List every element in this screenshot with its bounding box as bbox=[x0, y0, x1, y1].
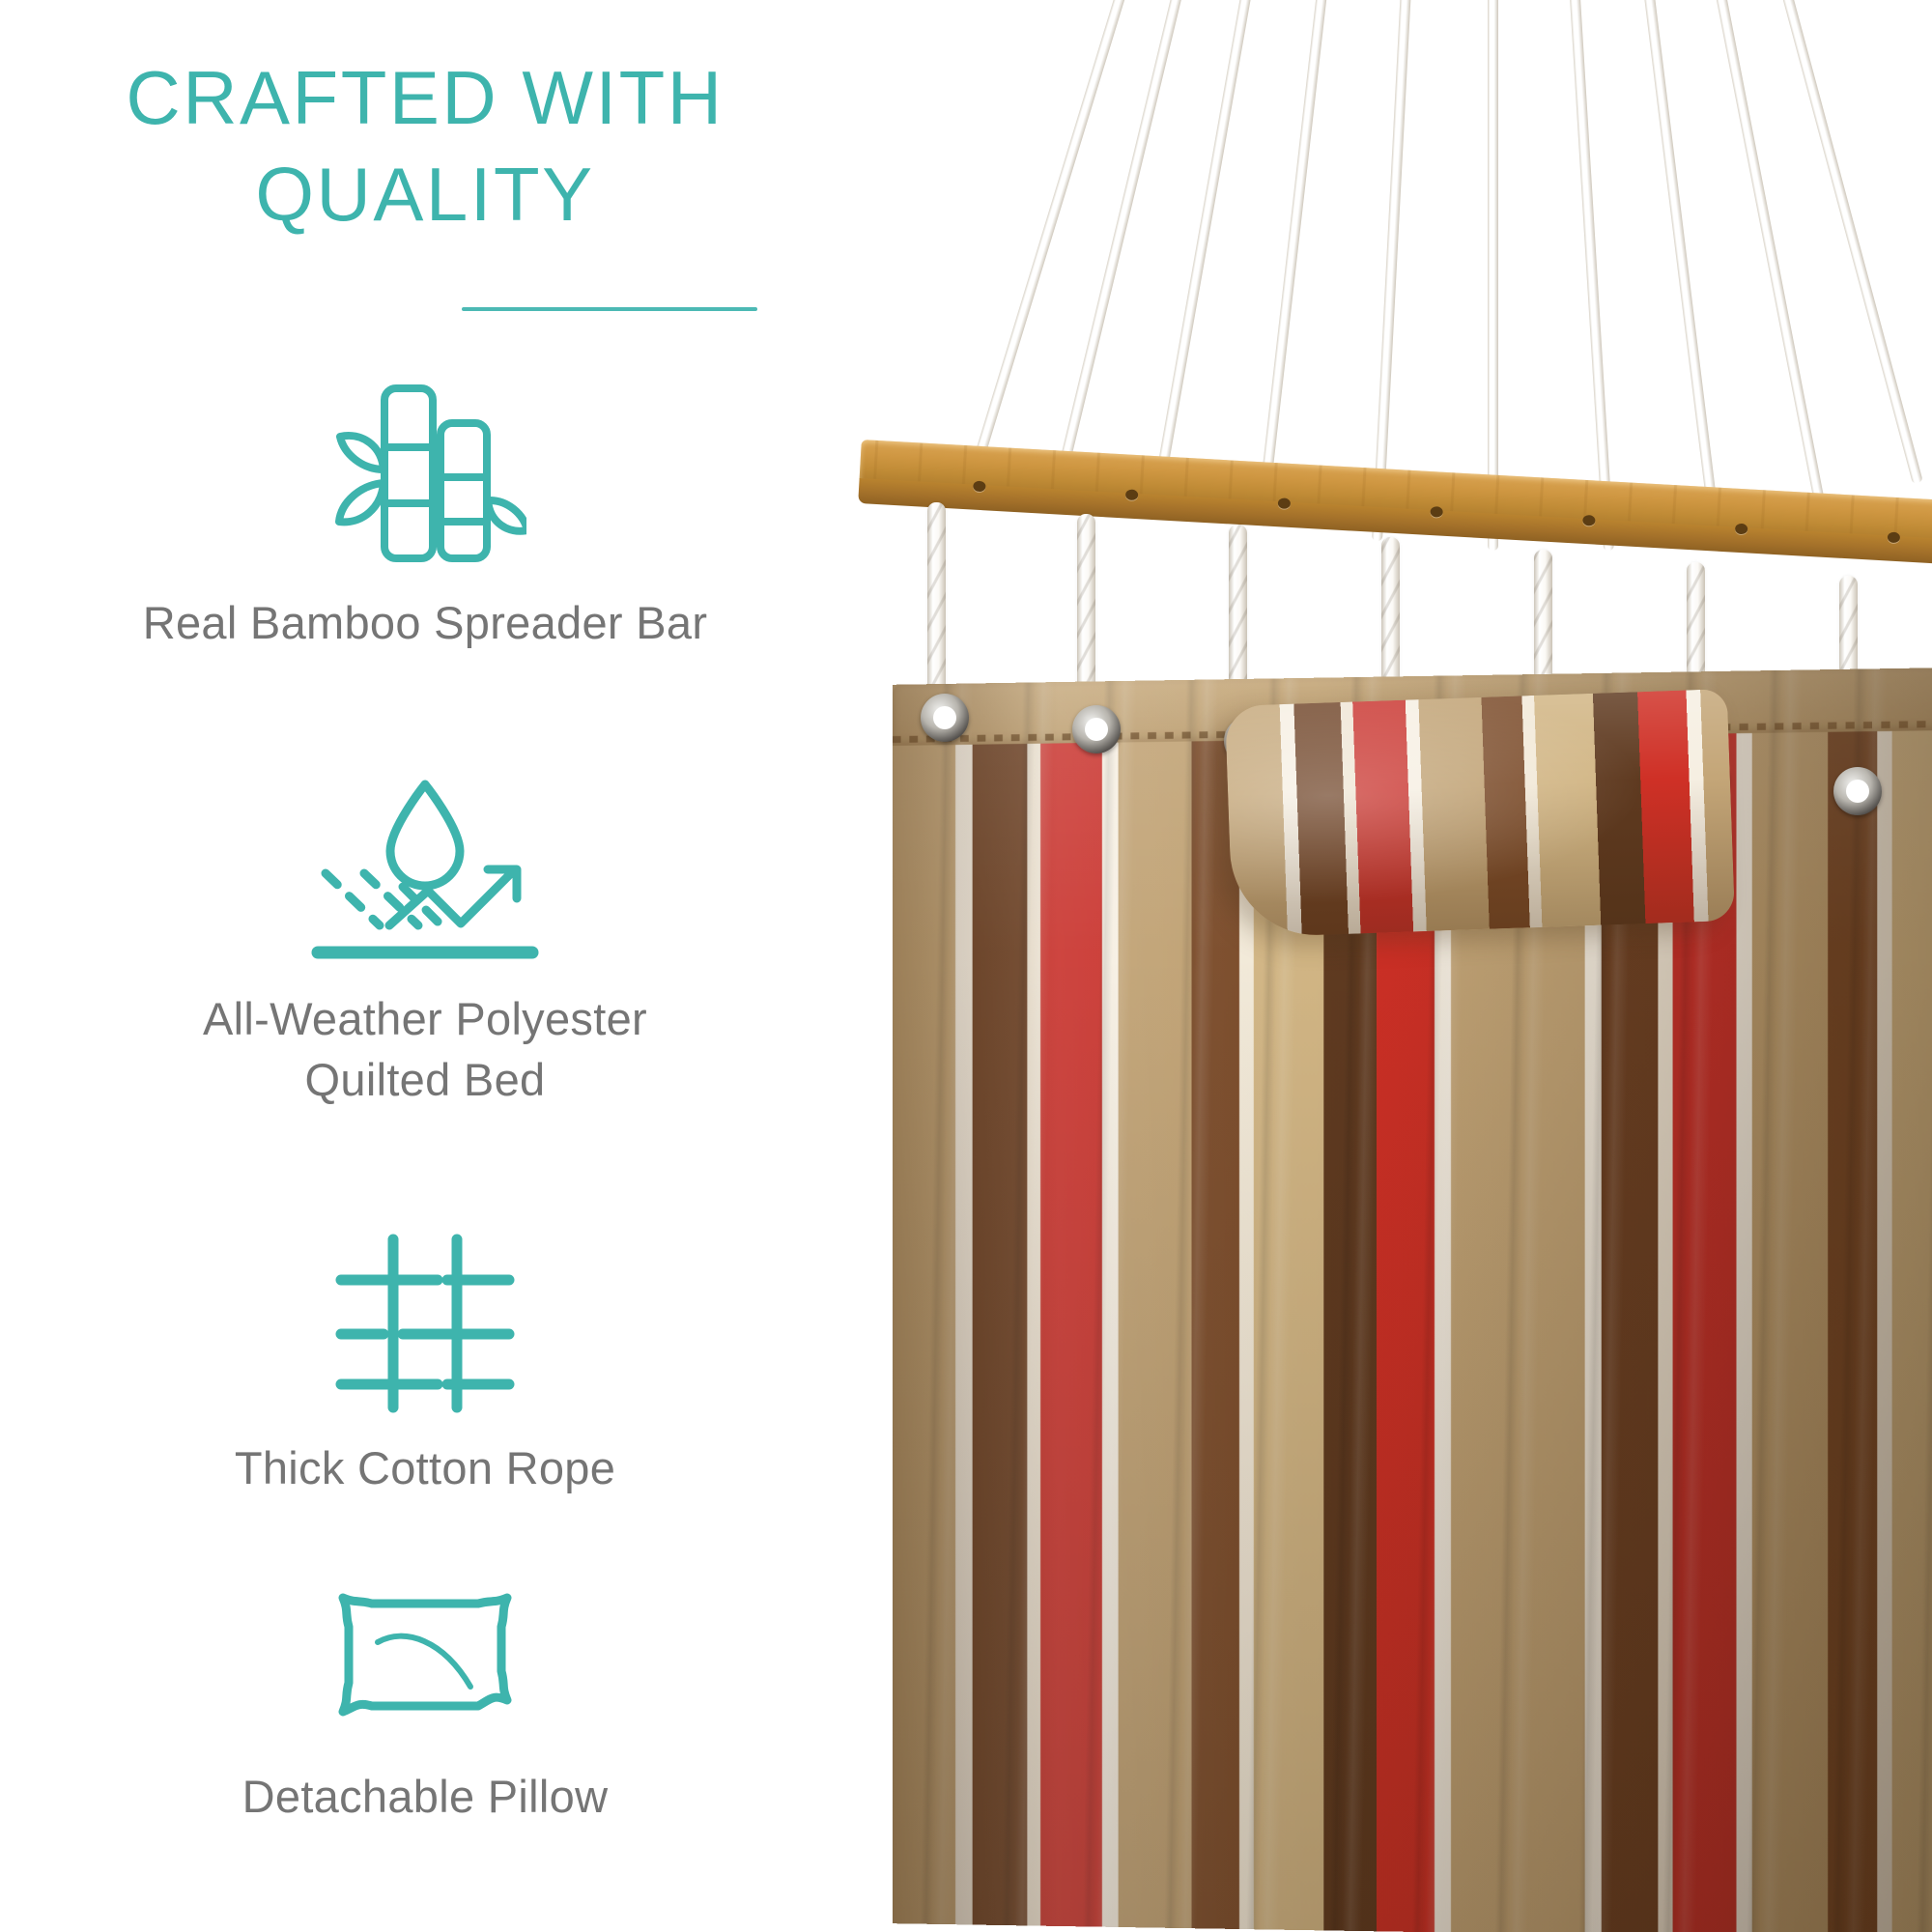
title-divider bbox=[462, 307, 757, 311]
detachable-pillow bbox=[1225, 689, 1735, 938]
water-repellent-icon bbox=[304, 773, 546, 966]
drop-rope bbox=[927, 502, 946, 710]
feature-item-all-weather: All-Weather Polyester Quilted Bed bbox=[0, 773, 850, 1110]
feature-item-pillow: Detachable Pillow bbox=[0, 1584, 850, 1828]
feature-label-rope: Thick Cotton Rope bbox=[0, 1438, 850, 1499]
metal-grommet bbox=[1072, 705, 1121, 753]
quilted-hammock-photo bbox=[792, 0, 1932, 1932]
features-panel: CRAFTED WITH QUALITY bbox=[0, 0, 850, 1932]
woven-rope-icon-wrap bbox=[0, 1232, 850, 1415]
metal-grommet bbox=[921, 694, 969, 742]
feature-label-bamboo: Real Bamboo Spreader Bar bbox=[0, 593, 850, 654]
feature-label-all-weather: All-Weather Polyester Quilted Bed bbox=[0, 989, 850, 1110]
woven-rope-icon bbox=[333, 1232, 517, 1415]
pillow-icon-wrap bbox=[0, 1584, 850, 1744]
feature-item-bamboo: Real Bamboo Spreader Bar bbox=[0, 377, 850, 654]
suspension-rope bbox=[1488, 0, 1498, 551]
water-repellent-icon-wrap bbox=[0, 773, 850, 966]
metal-grommet bbox=[1833, 767, 1882, 815]
feature-label-pillow: Detachable Pillow bbox=[0, 1767, 850, 1828]
feature-item-rope: Thick Cotton Rope bbox=[0, 1232, 850, 1499]
bamboo-icon bbox=[324, 377, 526, 570]
infographic-canvas: CRAFTED WITH QUALITY bbox=[0, 0, 1932, 1932]
pillow-shading bbox=[1225, 689, 1735, 938]
pillow-icon bbox=[324, 1584, 526, 1744]
bamboo-icon-wrap bbox=[0, 377, 850, 570]
page-title: CRAFTED WITH QUALITY bbox=[0, 50, 850, 243]
